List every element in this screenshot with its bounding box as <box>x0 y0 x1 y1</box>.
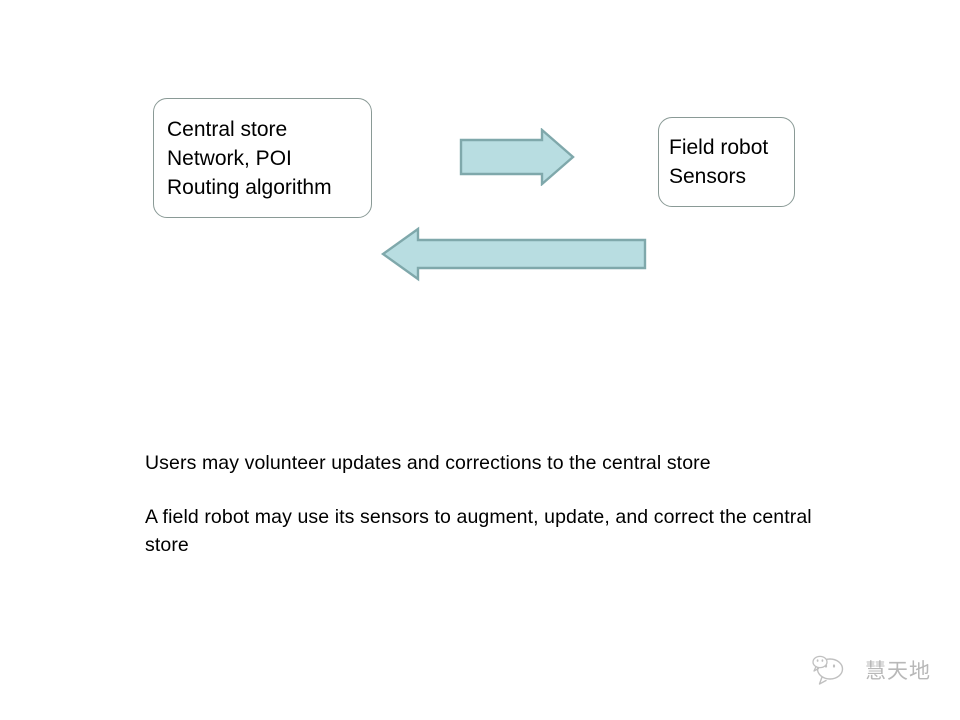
node-central-store-line-3: Routing algorithm <box>167 173 371 202</box>
node-central-store[interactable]: Central store Network, POI Routing algor… <box>153 98 372 218</box>
arrow-left-icon[interactable] <box>378 226 650 282</box>
arrow-left-shape <box>383 229 645 279</box>
node-field-robot[interactable]: Field robot Sensors <box>658 117 795 207</box>
arrow-right-icon[interactable] <box>456 128 576 186</box>
note-users-volunteer: Users may volunteer updates and correcti… <box>145 449 905 477</box>
node-central-store-line-2: Network, POI <box>167 144 371 173</box>
note-robot-sensors: A field robot may use its sensors to aug… <box>145 503 855 559</box>
node-field-robot-line-2: Sensors <box>669 162 794 191</box>
watermark-label: 慧天地 <box>865 655 931 685</box>
arrow-right-shape <box>461 130 573 184</box>
slide-canvas: Central store Network, POI Routing algor… <box>0 0 960 720</box>
watermark: 慧天地 <box>812 653 931 687</box>
node-field-robot-line-1: Field robot <box>669 133 794 162</box>
node-central-store-line-1: Central store <box>167 115 371 144</box>
wechat-speech-bubble-icon <box>812 653 856 687</box>
